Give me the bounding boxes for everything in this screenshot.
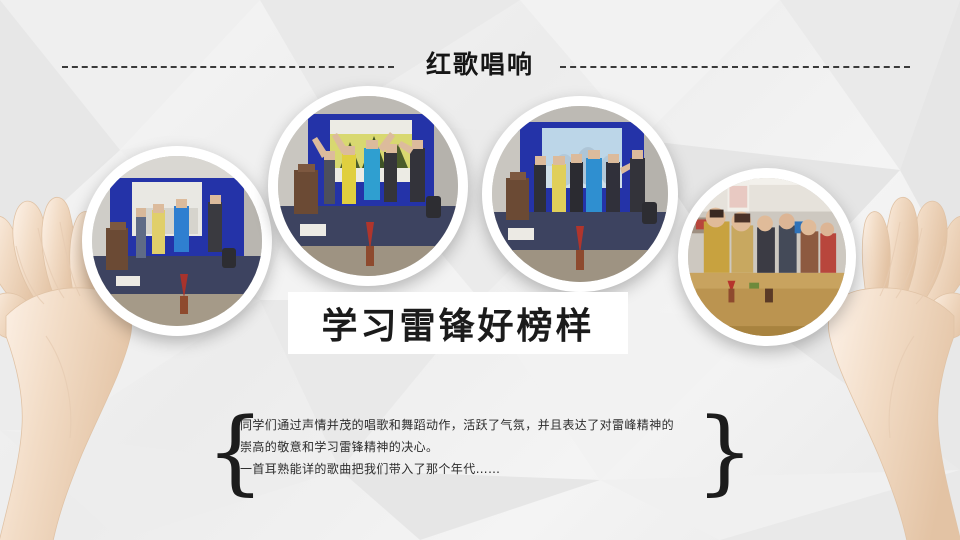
caption-line-2: 崇高的敬意和学习雷锋精神的决心。 bbox=[240, 436, 732, 458]
photo-circle-3[interactable] bbox=[482, 96, 678, 292]
caption-block: { } 同学们通过声情并茂的唱歌和舞蹈动作，活跃了气氛，并且表达了对雷峰精神的 … bbox=[206, 412, 758, 496]
photo-circle-1[interactable] bbox=[82, 146, 272, 336]
presentation-slide: 红歌唱响 bbox=[0, 0, 960, 540]
photo-circle-3-image bbox=[492, 106, 668, 282]
photo-circle-2-image bbox=[278, 96, 458, 276]
photo-circle-1-image bbox=[92, 156, 262, 326]
caption-line-3: 一首耳熟能详的歌曲把我们带入了那个年代…… bbox=[240, 458, 732, 480]
headline-text: 学习雷锋好榜样 bbox=[288, 292, 628, 354]
photo-circle-4[interactable] bbox=[678, 168, 856, 346]
slide-title: 红歌唱响 bbox=[0, 48, 960, 82]
caption-lines: 同学们通过声情并茂的唱歌和舞蹈动作，活跃了气氛，并且表达了对雷峰精神的 崇高的敬… bbox=[240, 414, 732, 480]
photo-circle-4-image bbox=[688, 178, 846, 336]
photo-circle-2[interactable] bbox=[268, 86, 468, 286]
caption-line-1: 同学们通过声情并茂的唱歌和舞蹈动作，活跃了气氛，并且表达了对雷峰精神的 bbox=[240, 414, 732, 436]
